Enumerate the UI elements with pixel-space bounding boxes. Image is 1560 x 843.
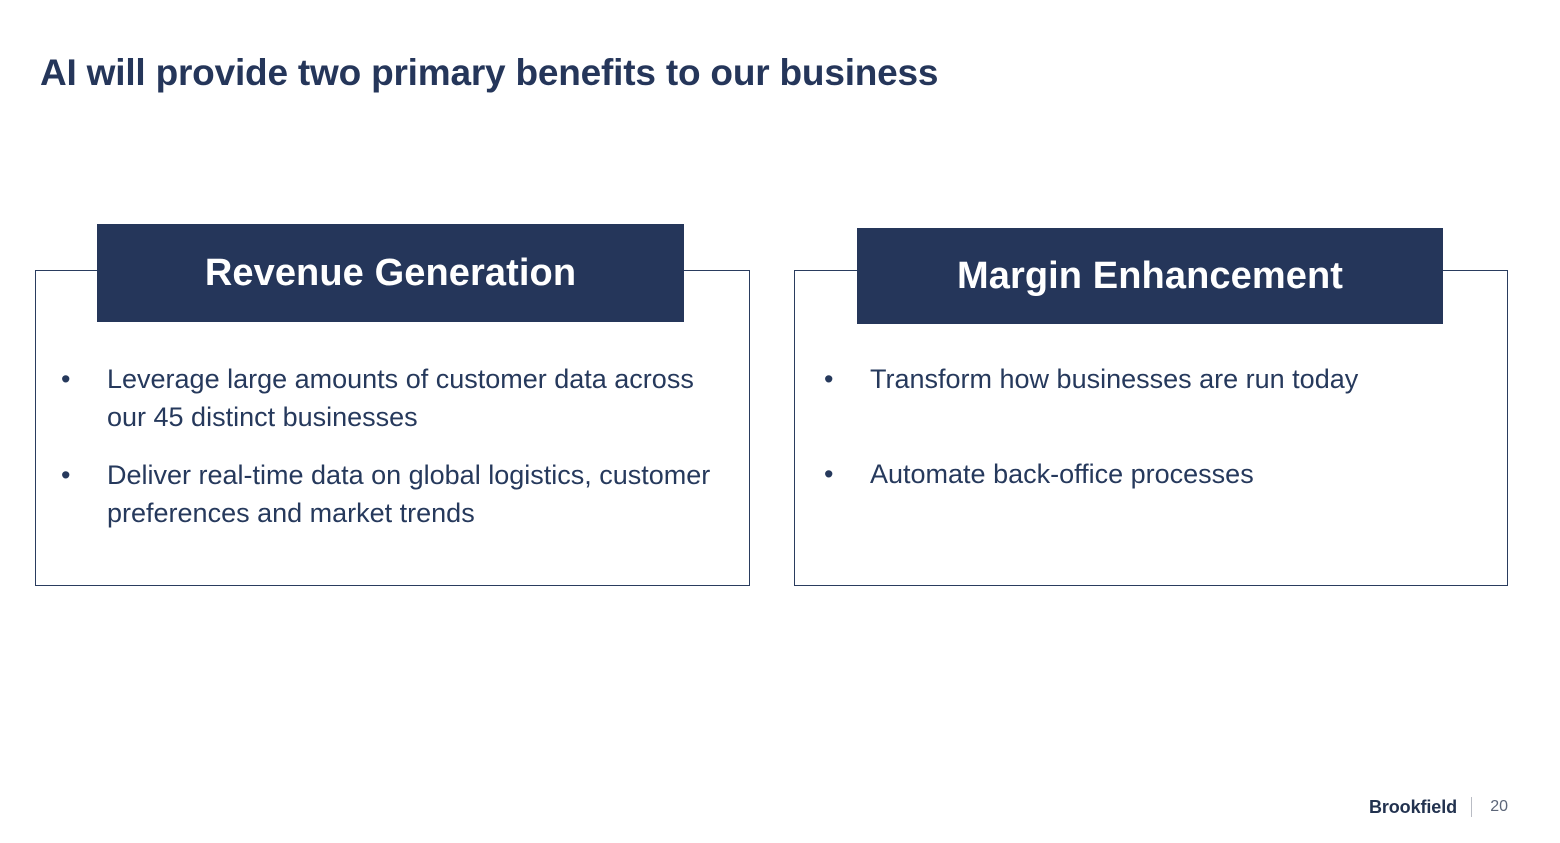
bullet-dot-icon: • (824, 455, 844, 493)
card-header-banner-margin-enhancement: Margin Enhancement (857, 228, 1443, 324)
bullet-list-revenue-generation: • Leverage large amounts of customer dat… (55, 360, 715, 532)
bullet-dot-icon: • (61, 360, 81, 398)
footer-divider (1471, 797, 1472, 817)
page-title: AI will provide two primary benefits to … (40, 51, 1340, 95)
list-item: • Leverage large amounts of customer dat… (55, 360, 715, 436)
bullet-dot-icon: • (824, 360, 844, 398)
card-header-banner-revenue-generation: Revenue Generation (97, 224, 684, 322)
page-number: 20 (1486, 798, 1508, 816)
slide-footer: Brookfield 20 (1369, 796, 1508, 818)
list-item: • Deliver real-time data on global logis… (55, 456, 715, 532)
list-item: • Transform how businesses are run today (818, 360, 1478, 398)
bullet-dot-icon: • (61, 456, 81, 494)
bullet-list-margin-enhancement: • Transform how businesses are run today… (818, 360, 1478, 550)
card-header-title: Margin Enhancement (957, 255, 1343, 297)
list-item: • Automate back-office processes (818, 455, 1478, 493)
list-item-text: Leverage large amounts of customer data … (107, 360, 715, 436)
brand-logo-text: Brookfield (1369, 797, 1457, 818)
card-header-title: Revenue Generation (205, 252, 576, 294)
list-item-text: Automate back-office processes (870, 455, 1478, 493)
slide-canvas: AI will provide two primary benefits to … (0, 0, 1560, 843)
list-item-text: Deliver real-time data on global logisti… (107, 456, 715, 532)
list-item-text: Transform how businesses are run today (870, 360, 1478, 398)
